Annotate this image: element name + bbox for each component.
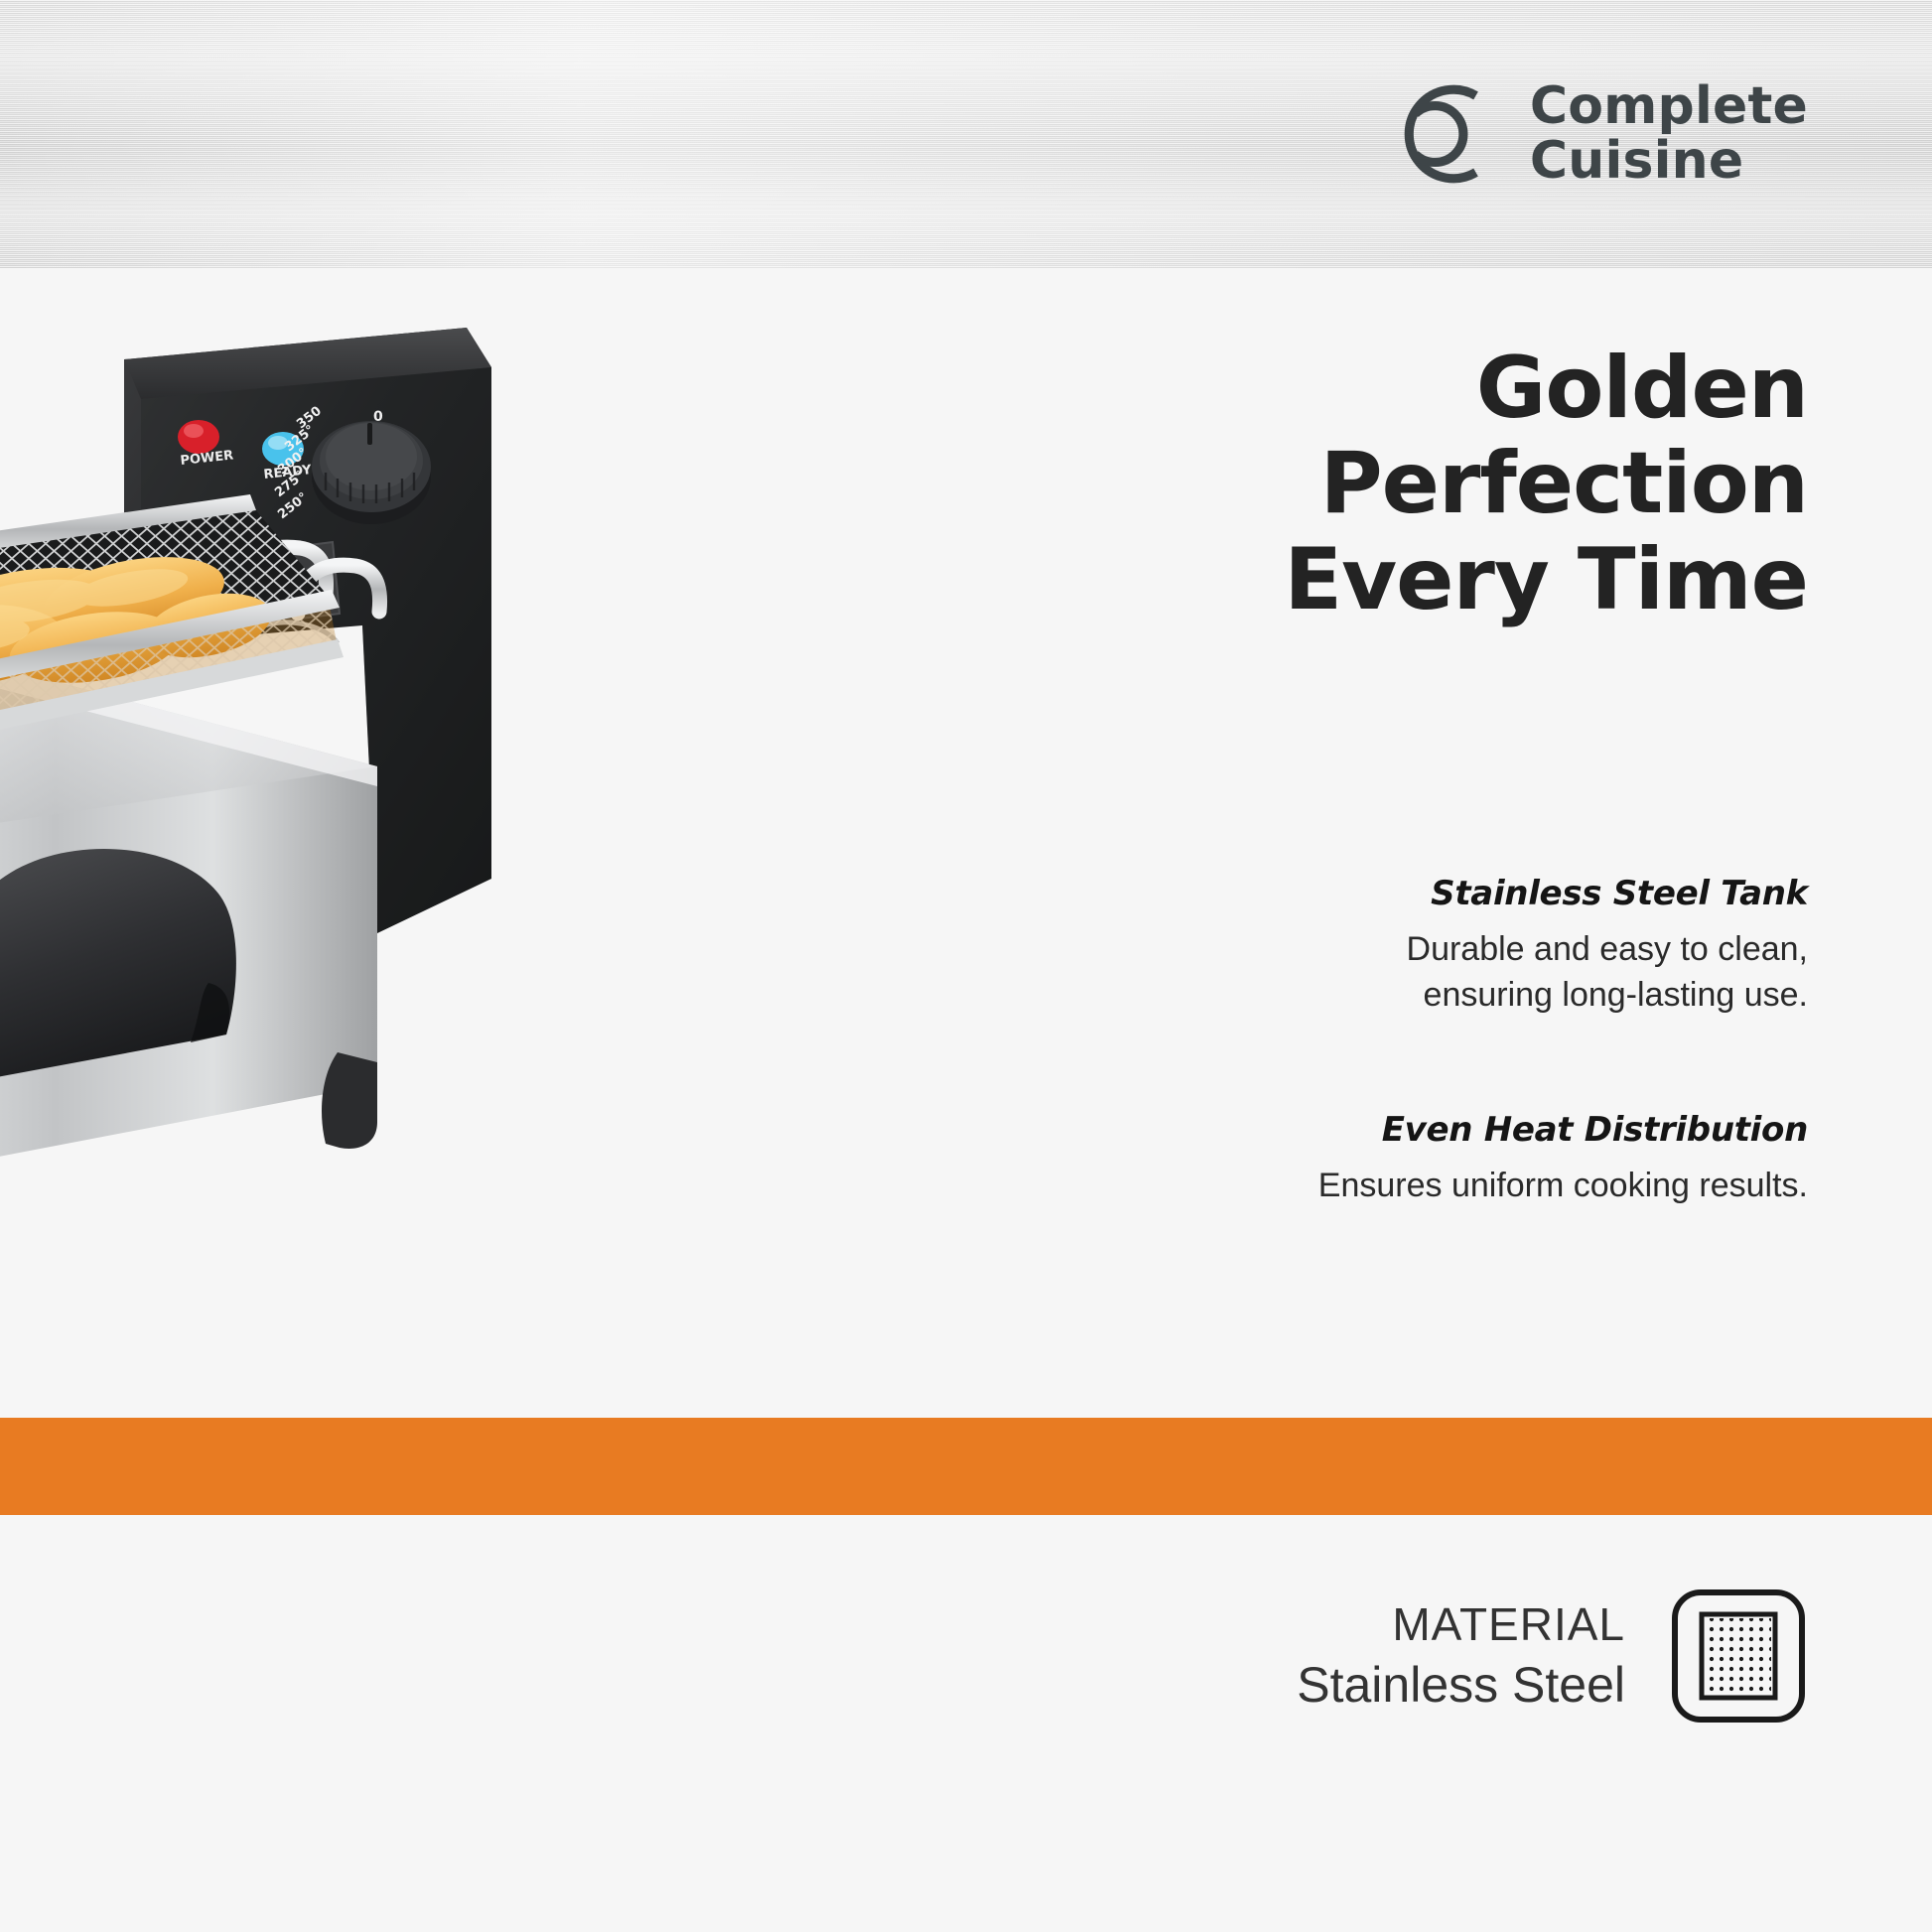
feature-description-line: Durable and easy to clean, xyxy=(895,927,1808,973)
accent-band xyxy=(0,1418,1932,1515)
feature-list: Stainless Steel Tank Durable and easy to… xyxy=(895,874,1808,1209)
header-bar: Complete Cuisine xyxy=(0,0,1932,268)
fryer-stainless-body xyxy=(0,659,377,1244)
spec-label: MATERIAL xyxy=(1297,1596,1625,1654)
spec-text-block: MATERIAL Stainless Steel xyxy=(1297,1596,1625,1716)
brand-logo-text: Complete Cuisine xyxy=(1530,79,1808,189)
feature-item-even-heat-distribution: Even Heat Distribution Ensures uniform c… xyxy=(895,1110,1808,1209)
temperature-dial-knob xyxy=(312,421,431,524)
brand-logo-line2: Cuisine xyxy=(1530,134,1808,189)
product-image-deep-fryer: POWER READY 0 350 325° 300° 275° 250° xyxy=(0,298,606,1420)
feature-description-line: ensuring long-lasting use. xyxy=(895,973,1808,1019)
feature-title: Stainless Steel Tank xyxy=(895,874,1808,913)
headline-line-3: Every Time xyxy=(895,532,1808,627)
feature-item-stainless-steel-tank: Stainless Steel Tank Durable and easy to… xyxy=(895,874,1808,1019)
headline-line-2: Perfection xyxy=(895,436,1808,531)
spec-value: Stainless Steel xyxy=(1297,1654,1625,1717)
feature-description: Durable and easy to clean, ensuring long… xyxy=(895,927,1808,1019)
mesh-material-icon xyxy=(1669,1587,1808,1725)
page-headline: Golden Perfection Every Time xyxy=(895,341,1808,627)
feature-description-line: Ensures uniform cooking results. xyxy=(895,1164,1808,1209)
feature-description: Ensures uniform cooking results. xyxy=(895,1164,1808,1209)
feature-title: Even Heat Distribution xyxy=(895,1110,1808,1150)
headline-line-1: Golden xyxy=(895,341,1808,436)
brand-logo[interactable]: Complete Cuisine xyxy=(1383,73,1808,195)
complete-cuisine-arc-mark xyxy=(1383,73,1504,195)
brand-logo-line1: Complete xyxy=(1530,79,1808,134)
spec-material: MATERIAL Stainless Steel xyxy=(1297,1587,1808,1725)
fryer-foot-right xyxy=(322,1052,377,1149)
